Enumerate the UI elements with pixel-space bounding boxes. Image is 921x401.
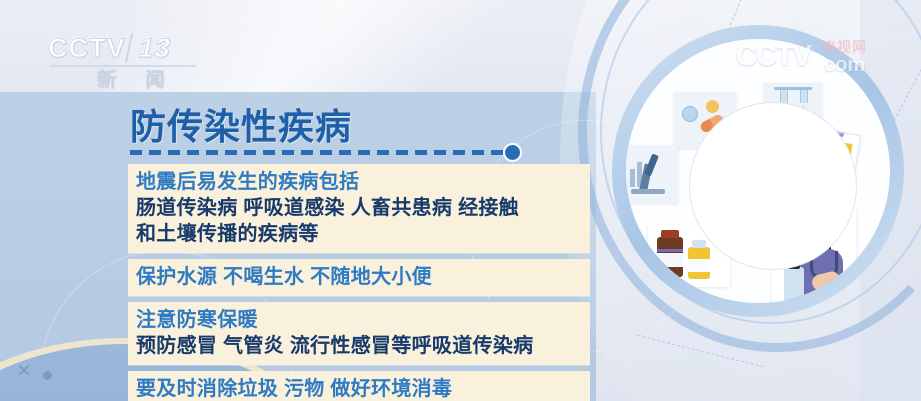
cctv-wordmark: CCTV [48, 33, 126, 63]
decorative-x-mark: ✕ [16, 364, 32, 380]
microscope-icon [626, 145, 678, 203]
bottle-yellow-label [688, 259, 710, 272]
decorative-dot [43, 371, 52, 380]
microscope-base [631, 189, 665, 194]
broadcast-graphic-screen: ✕ CCTV13 新 闻 防传染性疾病 地震后易发生的疾病包括 肠道传染病 呼吸… [0, 0, 921, 401]
corner-bracket-icon [888, 12, 910, 32]
water-block: 保护水源 不喝生水 不随地大小便 [128, 259, 590, 296]
cctv-logo-text: CCTV13 [48, 33, 208, 63]
illustration-center [689, 102, 857, 270]
pill-tablet-yellow [706, 100, 719, 113]
pill-tablet-blue [682, 106, 698, 122]
block-line: 要及时消除垃圾 污物 做好环境消毒 [136, 376, 580, 401]
page-title: 防传染性疾病 [130, 107, 550, 147]
microscope-bar [630, 169, 635, 187]
nurse-spray-bottle [784, 267, 804, 303]
channel-name-label: 新 闻 [48, 70, 208, 92]
warmth-block: 注意防寒保暖 预防感冒 气管炎 流行性感冒等呼吸道传染病 [128, 302, 590, 365]
flask-left-neck [780, 89, 788, 103]
bottle-brown-cap [661, 230, 679, 238]
diseases-block: 地震后易发生的疾病包括 肠道传染病 呼吸道感染 人畜共患病 经接触 和土壤传播的… [128, 164, 590, 253]
block-line: 地震后易发生的疾病包括 [136, 169, 580, 195]
flask-rim [774, 87, 812, 90]
title-end-dot [505, 145, 520, 160]
watermark-com-text: com [824, 54, 865, 77]
cctv-com-watermark: CCTV 央视网 com [736, 36, 906, 80]
block-line: 肠道传染病 呼吸道感染 人畜共患病 经接触 [136, 195, 580, 221]
channel-number: 13 [124, 33, 178, 63]
title-dashed-rule [130, 150, 508, 155]
block-line: 注意防寒保暖 [136, 307, 580, 333]
microscope-tube [644, 153, 659, 176]
block-line: 保护水源 不喝生水 不随地大小便 [136, 264, 580, 290]
block-line: 和土壤传播的疾病等 [136, 221, 580, 247]
page-title-text: 防传染性疾病 [130, 107, 550, 147]
sanitation-block: 要及时消除垃圾 污物 做好环境消毒 [128, 371, 590, 401]
bottle-brown-label [657, 253, 683, 267]
flask-right-neck [800, 89, 808, 103]
block-line: 预防感冒 气管炎 流行性感冒等呼吸道传染病 [136, 333, 580, 359]
bottle-brown-stripe [657, 249, 683, 252]
cctv13-logo: CCTV13 新 闻 [48, 33, 208, 95]
watermark-cctv-text: CCTV [736, 40, 811, 73]
logo-divider [50, 65, 196, 67]
bottle-yellow-cap [692, 240, 706, 248]
content-blocks: 地震后易发生的疾病包括 肠道传染病 呼吸道感染 人畜共患病 经接触 和土壤传播的… [128, 164, 590, 401]
